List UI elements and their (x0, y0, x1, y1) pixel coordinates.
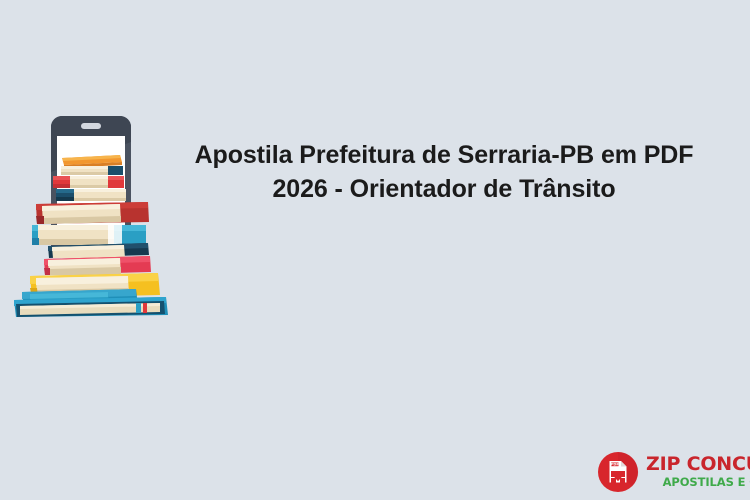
page-title: Apostila Prefeitura de Serraria-PB em PD… (168, 138, 720, 206)
book-darkred-large (36, 202, 149, 224)
book-navy-base (14, 297, 168, 317)
logo-wordmark: ZIP CONCURSOS APOSTILAS E CURSOS (646, 455, 750, 489)
book-navy-1 (56, 189, 126, 201)
pdf-download-icon: PDF (597, 451, 639, 493)
book-crimson (44, 256, 151, 275)
logo-secondary-text: APOSTILAS E CURSOS (646, 477, 750, 489)
book-stack-illustration (8, 112, 173, 317)
book-cream-1 (61, 166, 123, 175)
promo-banner: Apostila Prefeitura de Serraria-PB em PD… (0, 0, 750, 500)
book-red-1 (53, 176, 124, 188)
zip-concursos-logo[interactable]: PDF ZIP CONCURSOS APOSTILAS E CURSOS (597, 449, 745, 494)
logo-primary-text: ZIP CONCURSOS (646, 455, 750, 474)
book-teal-large (32, 225, 146, 245)
svg-text:PDF: PDF (611, 462, 620, 466)
banner-title-block: Apostila Prefeitura de Serraria-PB em PD… (168, 138, 720, 206)
